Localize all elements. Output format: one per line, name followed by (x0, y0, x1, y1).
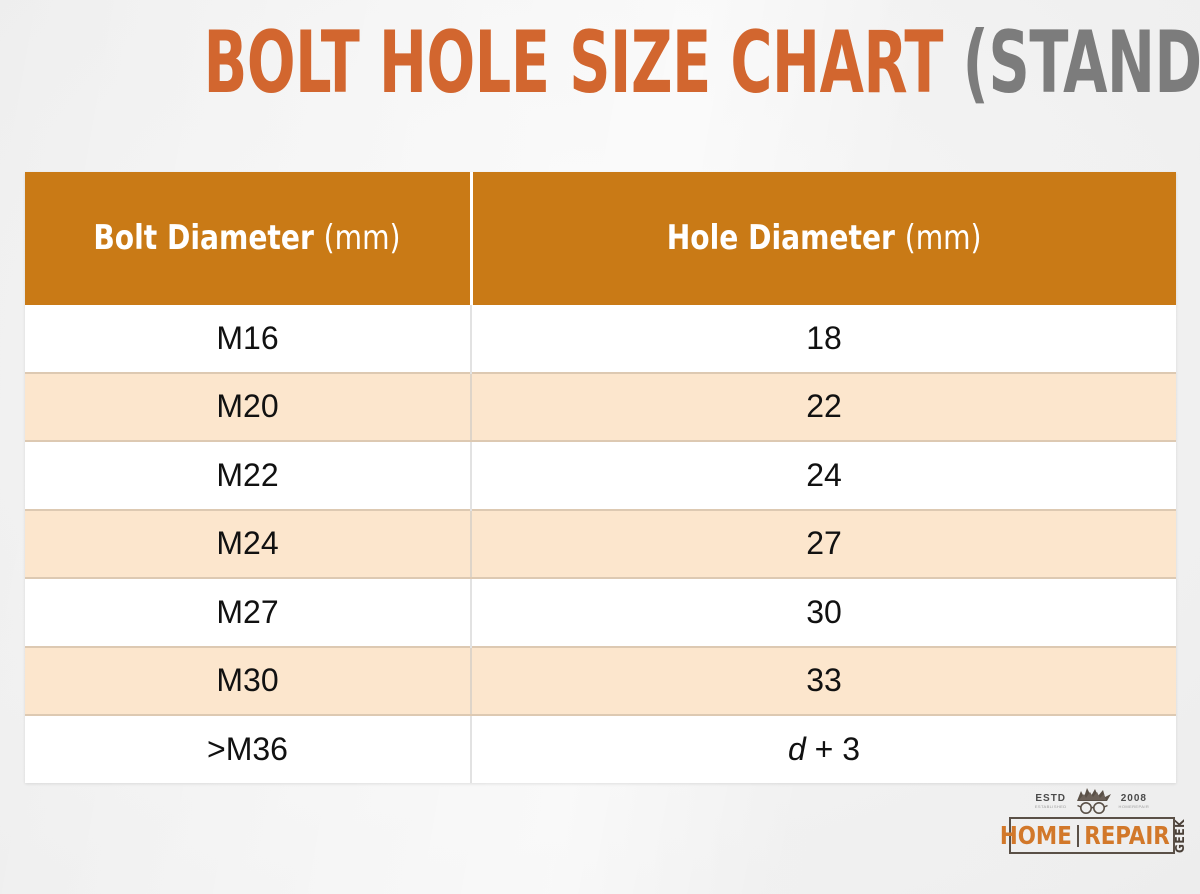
logo-divider (1077, 825, 1079, 847)
column-header-hole-diameter-unit: (mm) (905, 218, 982, 258)
geek-face-icon (1071, 786, 1115, 816)
logo-estd-label: ESTD (1035, 794, 1067, 804)
cell-hole-diameter: 22 (471, 373, 1176, 442)
column-header-hole-diameter-label: Hole Diameter (667, 218, 895, 258)
bolt-hole-size-table: Bolt Diameter (mm) Hole Diameter (mm) M1… (25, 172, 1176, 783)
logo-top-row: ESTD ESTABLISHED 2008 HOMEREPAIR (1009, 786, 1175, 816)
page-title: BOLT HOLE SIZE CHART (STANDARD) (0, 20, 1200, 108)
cell-bolt-diameter: M27 (25, 578, 471, 647)
table-row: M20 22 (25, 373, 1176, 442)
cell-hole-diameter-formula: d + 3 (471, 715, 1176, 783)
logo-word-geek: GEEK (1174, 819, 1186, 853)
cell-hole-diameter: 18 (471, 305, 1176, 373)
logo-wordmark: HOME REPAIR GEEK (1011, 819, 1173, 853)
table-row: >M36 d + 3 (25, 715, 1176, 783)
cell-bolt-diameter: M30 (25, 647, 471, 716)
column-header-bolt-diameter-unit: (mm) (324, 218, 401, 258)
column-header-bolt-diameter: Bolt Diameter (mm) (25, 172, 471, 305)
table-row: M30 33 (25, 647, 1176, 716)
cell-bolt-diameter: M22 (25, 441, 471, 510)
cell-bolt-diameter: >M36 (25, 715, 471, 783)
cell-bolt-diameter: M24 (25, 510, 471, 579)
table-header-row: Bolt Diameter (mm) Hole Diameter (mm) (25, 172, 1176, 305)
logo-word-home: HOME (1000, 823, 1072, 848)
column-header-hole-diameter: Hole Diameter (mm) (471, 172, 1176, 305)
formula-remainder: + 3 (806, 731, 860, 767)
table-row: M22 24 (25, 441, 1176, 510)
logo-word-repair: REPAIR (1084, 823, 1169, 848)
page-title-sub: (STANDARD) (963, 13, 1200, 113)
logo-estd-sublabel: ESTABLISHED (1035, 805, 1067, 809)
formula-variable: d (788, 731, 806, 767)
page-title-main: BOLT HOLE SIZE CHART (204, 13, 944, 113)
table-header: Bolt Diameter (mm) Hole Diameter (mm) (25, 172, 1176, 305)
cell-hole-diameter: 24 (471, 441, 1176, 510)
logo-year-label: 2008 (1119, 794, 1150, 804)
logo-wordmark-frame: HOME REPAIR GEEK (1009, 817, 1175, 854)
logo-year-block: 2008 HOMEREPAIR (1119, 794, 1150, 809)
cell-hole-diameter: 27 (471, 510, 1176, 579)
table-body: M16 18 M20 22 M22 24 M24 27 M27 30 M30 3… (25, 305, 1176, 783)
column-header-bolt-diameter-label: Bolt Diameter (94, 218, 315, 258)
cell-hole-diameter: 30 (471, 578, 1176, 647)
cell-hole-diameter: 33 (471, 647, 1176, 716)
logo-estd-block: ESTD ESTABLISHED (1035, 794, 1067, 809)
poster-canvas: BOLT HOLE SIZE CHART (STANDARD) Bolt Dia… (0, 0, 1200, 894)
table-row: M27 30 (25, 578, 1176, 647)
cell-bolt-diameter: M16 (25, 305, 471, 373)
table-row: M24 27 (25, 510, 1176, 579)
home-repair-geek-logo: ESTD ESTABLISHED 2008 HOMEREPAIR (1009, 786, 1175, 852)
logo-year-sublabel: HOMEREPAIR (1119, 805, 1150, 809)
cell-bolt-diameter: M20 (25, 373, 471, 442)
table-row: M16 18 (25, 305, 1176, 373)
